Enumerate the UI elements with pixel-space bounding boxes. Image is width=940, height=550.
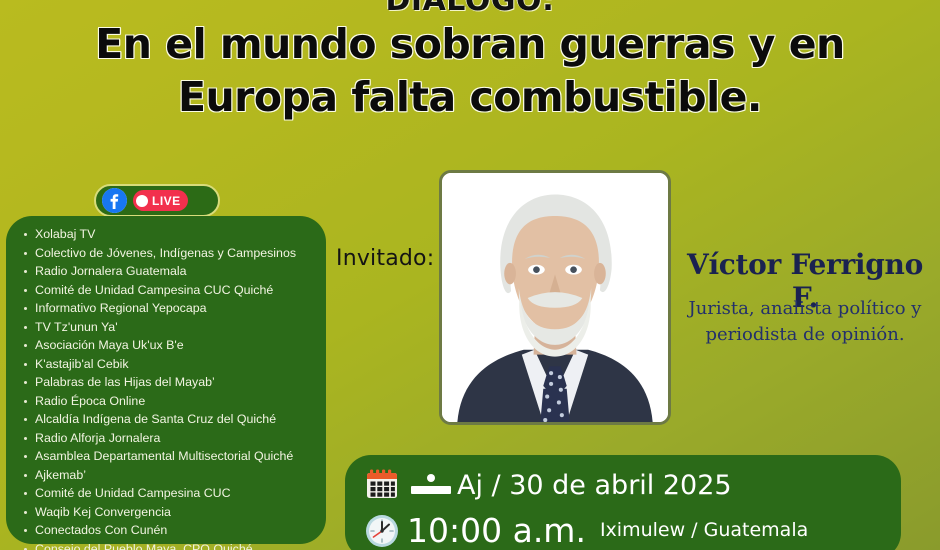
event-time-row: 10:00 a.m. Iximulew / Guatemala <box>359 507 901 550</box>
list-item: Asociación Maya Uk'ux B'e <box>20 336 316 355</box>
poster-title-line-1: En el mundo sobran guerras y en <box>0 18 940 71</box>
guest-role: Jurista, analista político y periodista … <box>672 296 938 348</box>
list-item: Waqib Kej Convergencia <box>20 503 316 522</box>
list-item: Conectados Con Cunén <box>20 521 316 540</box>
list-item: Comité de Unidad Campesina CUC Quiché <box>20 281 316 300</box>
event-place: Iximulew / Guatemala <box>586 519 808 541</box>
facebook-icon <box>102 188 127 213</box>
poster-title-line-2: Europa falta combustible. <box>0 71 940 124</box>
live-record-dot <box>136 195 148 207</box>
list-item: Informativo Regional Yepocapa <box>20 299 316 318</box>
list-item: Palabras de las Hijas del Mayab’ <box>20 373 316 392</box>
calendar-icon <box>359 467 405 503</box>
facebook-live-badge[interactable]: LIVE <box>94 184 220 217</box>
event-date: Aj / 30 de abril 2025 <box>457 470 732 501</box>
event-date-row: Aj / 30 de abril 2025 <box>359 463 901 507</box>
list-item: K'astajib'al Cebik <box>20 355 316 374</box>
sponsor-list: Xolabaj TV Colectivo de Jóvenes, Indígen… <box>20 225 316 550</box>
event-time: 10:00 a.m. <box>405 511 586 550</box>
guest-label: Invitado: <box>336 246 434 271</box>
list-item: Alcaldía Indígena de Santa Cruz del Quic… <box>20 410 316 429</box>
maya-bar <box>411 486 451 494</box>
live-badge: LIVE <box>133 190 188 211</box>
list-item: Comité de Unidad Campesina CUC <box>20 484 316 503</box>
poster-kicker: DIALOGO: <box>0 0 940 18</box>
maya-numeral-six <box>405 474 457 496</box>
list-item: Ajkemab’ <box>20 466 316 485</box>
list-item: Colectivo de Jóvenes, Indígenas y Campes… <box>20 244 316 263</box>
list-item: Xolabaj TV <box>20 225 316 244</box>
live-label: LIVE <box>152 194 181 208</box>
list-item: TV Tz'unun Ya' <box>20 318 316 337</box>
list-item: Radio Alforja Jornalera <box>20 429 316 448</box>
list-item: Consejo del Pueblo Maya. CPO Quiché <box>20 540 316 550</box>
list-item: Radio Época Online <box>20 392 316 411</box>
list-item: Asamblea Departamental Multisectorial Qu… <box>20 447 316 466</box>
poster-title-block: DIALOGO: En el mundo sobran guerras y en… <box>0 0 940 124</box>
list-item: Radio Jornalera Guatemala <box>20 262 316 281</box>
guest-photo <box>439 170 671 425</box>
sponsor-list-panel: Xolabaj TV Colectivo de Jóvenes, Indígen… <box>6 216 326 544</box>
maya-dot <box>427 474 435 482</box>
alarm-clock-icon <box>359 511 405 549</box>
event-info-bar: Aj / 30 de abril 2025 10:00 a.m. Iximule… <box>345 455 901 550</box>
